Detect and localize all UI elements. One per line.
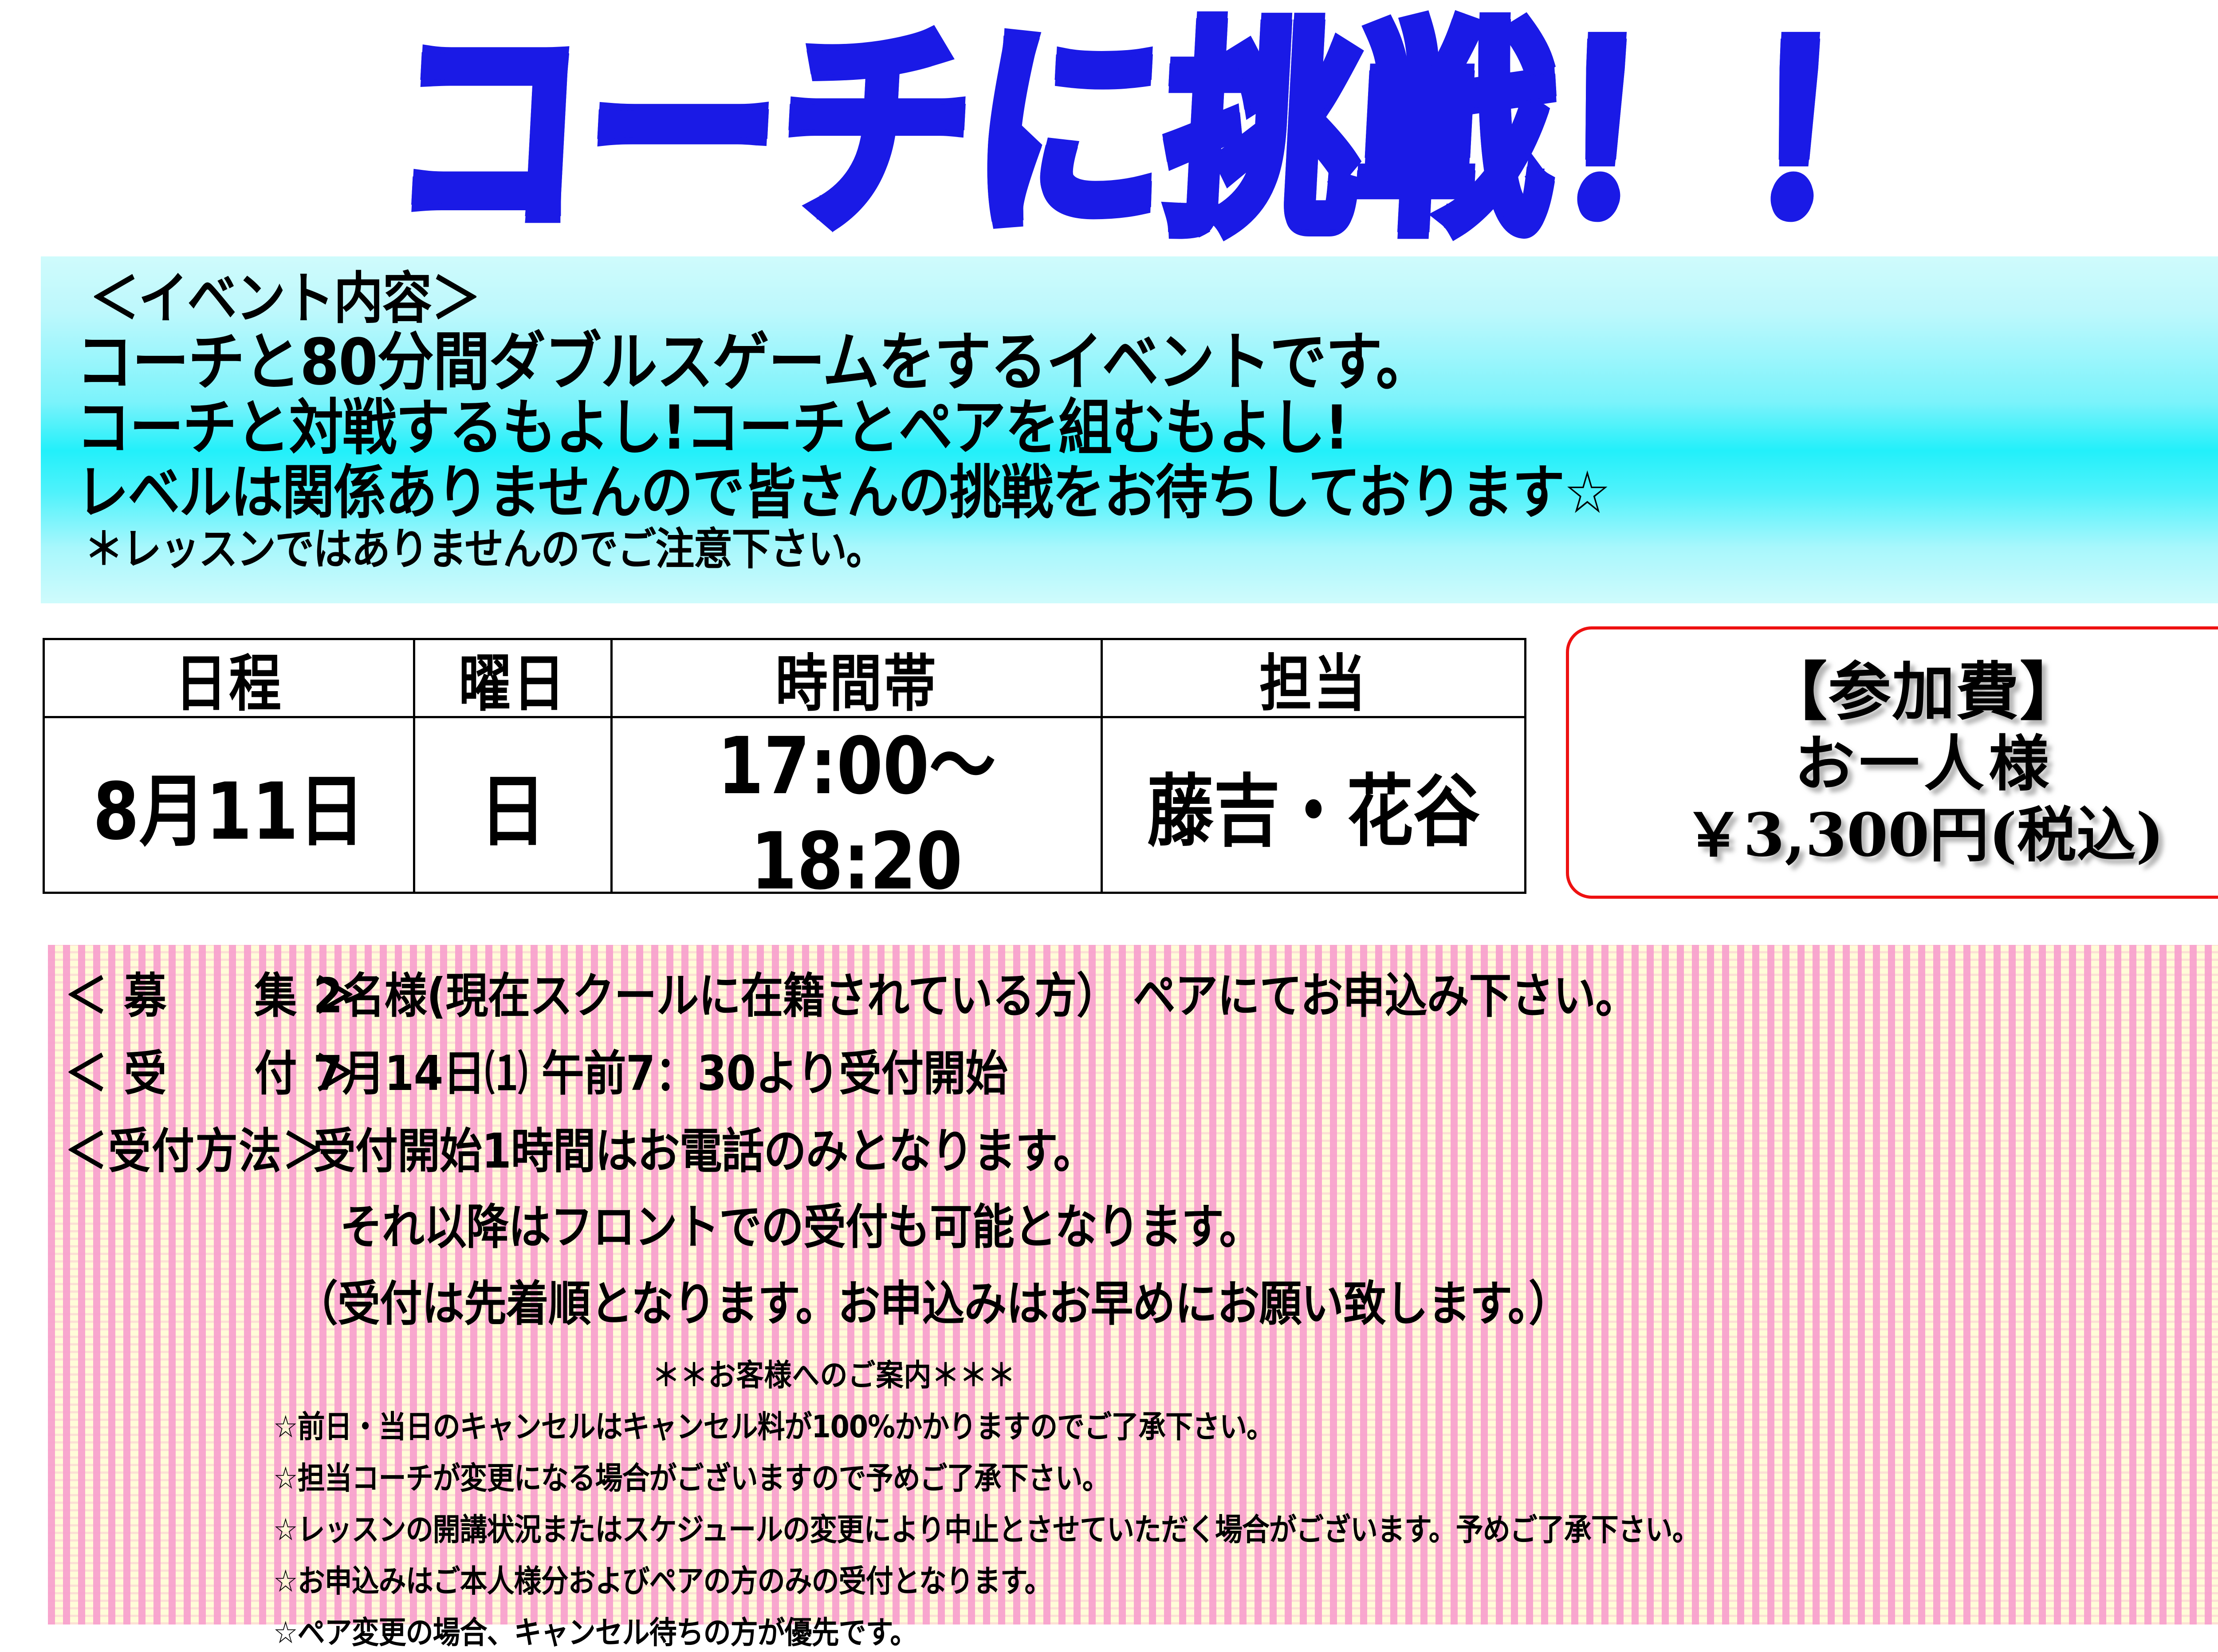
schedule-table: 日程 曜日 時間帯 担当 8月11日 日 17:00～18:20 藤吉・花谷 (43, 638, 1526, 894)
fee-amount: ￥3,300円(税込) (1684, 804, 2164, 866)
schedule-cell-time: 17:00～18:20 (612, 717, 1102, 893)
registration-box: ＜ 募 集 ＞ 2名様(現在スクールに在籍されている方） ペアにてお申込み下さい… (48, 945, 2218, 1624)
page-title: コーチに挑戦！！ (388, 20, 1947, 245)
schedule-cell-day: 日 (414, 717, 612, 893)
schedule-header-staff: 担当 (1102, 639, 1526, 717)
event-description-line-3: レベルは関係ありませんので皆さんの挑戦をお待ちしております☆ (76, 460, 2218, 525)
registration-capacity-value: 2名様(現在スクールに在籍されている方） ペアにてお申込み下さい。 (313, 957, 1637, 1027)
event-content-heading: ＜イベント内容＞ (90, 267, 2218, 330)
event-description-line-1: コーチと80分間ダブルスゲームをするイベントです。 (76, 327, 2218, 398)
list-item: ☆レッスンの開講状況またはスケジュールの変更により中止とさせていただく場合がござ… (273, 1505, 2218, 1550)
schedule-header-date: 日程 (44, 639, 414, 717)
registration-method-note: （受付は先着順となります。お申込みはお早めにお願い致します。） (295, 1265, 2218, 1334)
event-description-box: ＜イベント内容＞ コーチと80分間ダブルスゲームをするイベントです。 コーチと対… (41, 256, 2218, 603)
event-description-note: ＊レッスンではありませんのでご注意下さい。 (84, 524, 2218, 574)
registration-reception-row: ＜ 受 付 ＞ 7月14日⑴ 午前7：30より受付開始 (65, 1038, 2218, 1100)
poster-title-band: コーチに挑戦！！ (0, 18, 2218, 248)
list-item: ☆担当コーチが変更になる場合がございますので予めご了承下さい。 (273, 1453, 2218, 1498)
event-description-line-2: コーチと対戦するもよし!コーチとペアを組むもよし! (76, 394, 2218, 461)
list-item: ☆お申込みはご本人様分およびペアの方のみの受付となります。 (273, 1556, 2218, 1601)
event-description-content: ＜イベント内容＞ コーチと80分間ダブルスゲームをするイベントです。 コーチと対… (76, 267, 2218, 569)
schedule-cell-staff: 藤吉・花谷 (1102, 717, 1526, 893)
registration-method-value: 受付開始1時間はお電話のみとなります。 (313, 1113, 1095, 1182)
fee-box: 【参加費】 お一人様 ￥3,300円(税込) (1566, 626, 2218, 899)
registration-method-value-2: それ以降はフロントでの受付も可能となります。 (340, 1188, 2218, 1258)
registration-method-row: ＜受付方法＞ 受付開始1時間はお電話のみとなります。 (65, 1116, 2218, 1178)
schedule-header-day: 曜日 (414, 639, 612, 717)
fee-heading: 【参加費】 (1764, 659, 2084, 725)
registration-capacity-row: ＜ 募 集 ＞ 2名様(現在スクールに在籍されている方） ペアにてお申込み下さい… (65, 961, 2218, 1023)
fee-per-person-label: お一人様 (1794, 732, 2053, 796)
list-item: ☆ペア変更の場合、キャンセル待ちの方が優先です。 (273, 1608, 2218, 1652)
registration-reception-label: ＜ 受 付 ＞ (65, 1035, 313, 1104)
list-item: ☆前日・当日のキャンセルはキャンセル料が100%かかりますのでご了承下さい。 (273, 1402, 2218, 1447)
notes-heading: ＊＊お客様へのご案内＊＊＊ (65, 1351, 2218, 1395)
registration-capacity-label: ＜ 募 集 ＞ (65, 957, 313, 1027)
table-row: 8月11日 日 17:00～18:20 藤吉・花谷 (44, 717, 1526, 893)
registration-method-label: ＜受付方法＞ (65, 1113, 313, 1182)
schedule-cell-date: 8月11日 (44, 717, 414, 893)
registration-content: ＜ 募 集 ＞ 2名様(現在スクールに在籍されている方） ペアにてお申込み下さい… (65, 958, 2218, 1650)
registration-reception-value: 7月14日⑴ 午前7：30より受付開始 (313, 1035, 1007, 1104)
